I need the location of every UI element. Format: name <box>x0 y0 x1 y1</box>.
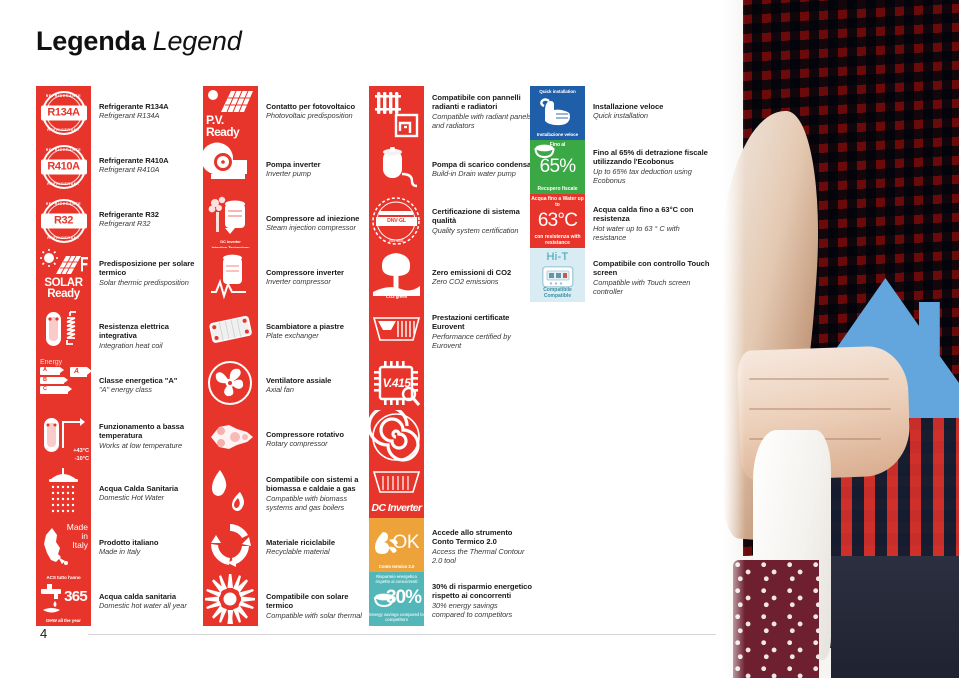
legend-label-en: Domestic hot water all year <box>99 601 199 610</box>
legend-label-en: Refrigerant R134A <box>99 111 199 120</box>
legend-label-it: Installazione veloce <box>593 102 711 111</box>
legend-label-en: Build-in Drain water pump <box>432 169 532 178</box>
legend-label-en: 30% energy savings compared to competito… <box>432 601 532 619</box>
legend-label-en: Solar thermic predisposition <box>99 278 199 287</box>
energy-bar-c: C <box>43 386 47 394</box>
legend-item-plate-exchanger: Scambiatore a piastre Plate exchanger <box>203 302 370 356</box>
legend-item-dhw-all-year: ACS tutto l'anno 365 DHW all the year Ac… <box>36 572 203 626</box>
legend-item-radiant-panels: Compatibile con pannelli radianti e radi… <box>369 86 536 140</box>
legend-label-en: Inverter pump <box>266 169 366 178</box>
seal-arc-top: REFRIGERANTE <box>40 94 88 98</box>
hot-water-63-degrees-icon: Acqua fino a Water up to 63°C con resist… <box>530 194 585 248</box>
tile-bottom-text: Compatibile Compatible <box>530 287 585 300</box>
tile-bottom-text: Recupero fiscale <box>530 186 585 192</box>
tile-line-2: Ready <box>206 127 239 139</box>
legend-label-en: Zero CO2 emissions <box>432 277 532 286</box>
low-temperature-thermometer-icon: +43°C -10°C <box>36 410 91 464</box>
legend-label-it: Refrigerante R134A <box>99 102 199 111</box>
legend-item-energy-class-a: Energy A B C A Classe energetica "A" "A"… <box>36 356 203 410</box>
legend-item-touch-screen: Hi-T Compatibile Compatible Compatibile … <box>530 248 715 302</box>
dnv-arc-bottom: ISO 9001 <box>369 239 424 243</box>
zero-co2-emissions-tree-icon: CO2 green <box>369 248 424 302</box>
legend-column-2: P.V. Ready Contatto per fotovoltaico Pho… <box>203 86 370 626</box>
legend-item-energy-savings-30: Risparmio energetico rispetto ai concorr… <box>369 572 536 626</box>
legend-label-it: Compatibile con pannelli radianti e radi… <box>432 93 532 112</box>
photo-finger-line-1 <box>749 378 889 380</box>
seal-arc-bottom: REFRIGERANT <box>40 182 88 186</box>
energy-flag-label: A <box>74 367 79 377</box>
legend-item-rotary-compressor: Compressore rotativo Rotary compressor <box>203 410 370 464</box>
integration-heat-coil-icon <box>36 302 91 356</box>
legend-column-3: Compatibile con pannelli radianti e radi… <box>369 86 536 626</box>
domestic-hot-water-shower-icon <box>36 464 91 518</box>
legend-label-it: Zero emissioni di CO2 <box>432 268 532 277</box>
legend-label-it: Compressore inverter <box>266 268 366 277</box>
photo-left-fade <box>723 0 745 678</box>
legend-label-it: Predisposizione per solare termico <box>99 259 199 278</box>
legend-item-dc-inverter: DC Inverter <box>369 464 536 518</box>
energy-bar-b: B <box>43 377 47 385</box>
legend-label-en: Quality system certification <box>432 226 532 235</box>
legend-label-it: Prestazioni certificate Eurovent <box>432 313 532 332</box>
legend-label-it: Scambiatore a piastre <box>266 322 366 331</box>
legend-column-4: Quick installation Installazione veloce … <box>530 86 715 302</box>
tile-line-2: Ready <box>36 289 91 300</box>
legend-item-solar-ready: SOLAR Ready Predisposizione per solare t… <box>36 248 203 302</box>
legend-label-en: Compatible with solar thermal <box>266 611 366 620</box>
legend-label-en: Compatible with radiant panels and radia… <box>432 112 532 130</box>
legend-page: LegendaLegend REFRIGERANTE R134A REFRIGE… <box>0 0 959 678</box>
spiral-scroll-compressor-icon <box>369 410 424 464</box>
legend-label-it: Certificazione di sistema qualità <box>432 207 532 226</box>
refrigerant-r32-seal-icon: REFRIGERANTE R32 REFRIGERANT <box>36 194 91 248</box>
tile-bottom-text: Installazione veloce <box>530 132 585 137</box>
tile-top-text: Acqua fino a Water up to <box>530 196 585 208</box>
legend-label-it: Classe energetica "A" <box>99 376 199 385</box>
legend-label-en: Refrigerant R32 <box>99 219 199 228</box>
photo-jeans <box>831 556 959 678</box>
page-title-english: Legend <box>153 26 242 56</box>
seal-arc-top: REFRIGERANTE <box>40 148 88 152</box>
photo-finger-line-2 <box>749 408 891 410</box>
energy-savings-30-percent-icon: Risparmio energetico rispetto ai concorr… <box>369 572 424 626</box>
tile-bottom-text: Energy savings compared to competitors <box>369 613 424 623</box>
legend-label-it: Refrigerante R410A <box>99 156 199 165</box>
inverter-compressor-icon <box>203 248 258 302</box>
seal-center-text: R134A <box>41 106 87 121</box>
page-title: LegendaLegend <box>36 26 242 57</box>
tax-deduction-65-percent-icon: Fino al 65% Recupero fiscale <box>530 140 585 194</box>
legend-label-it: Acqua Calda Sanitaria <box>99 484 199 493</box>
conto-termico-ok-hand-icon: OK Conto termico 2.0 <box>369 518 424 572</box>
energy-class-a-icon: Energy A B C A <box>36 356 91 410</box>
legend-label-en: Performance certified by Eurovent <box>432 332 532 350</box>
axial-fan-icon <box>203 356 258 410</box>
legend-label-it: Resistenza elettrica integrativa <box>99 322 199 341</box>
legend-label-it: Ventilatore assiale <box>266 376 366 385</box>
legend-label-en: Plate exchanger <box>266 331 366 340</box>
temp-cold: -10°C <box>75 456 89 462</box>
footer-divider <box>88 634 716 635</box>
legend-label-en: Photovoltaic predisposition <box>266 111 366 120</box>
tile-bottom-text-1: DC Inverter <box>203 240 258 245</box>
legend-item-made-in-italy: Made in Italy Prodotto italiano Made in … <box>36 518 203 572</box>
tile-big-value: 65% <box>530 156 585 178</box>
temp-hot: +43°C <box>73 448 89 454</box>
legend-label-en: Steam injection compressor <box>266 223 366 232</box>
drain-water-pump-icon <box>369 140 424 194</box>
legend-item-low-temperature: +43°C -10°C Funzionamento a bassa temper… <box>36 410 203 464</box>
legend-label-en: Quick installation <box>593 111 711 120</box>
legend-label-it: Refrigerante R32 <box>99 210 199 219</box>
inverter-pump-icon <box>203 140 258 194</box>
seal-arc-bottom: REFRIGERANT <box>40 128 88 132</box>
legend-item-biomass-gas: Compatibile con sistemi a biomassa e cal… <box>203 464 370 518</box>
energy-bar-a: A <box>43 367 47 375</box>
legend-label-en: Made in Italy <box>99 547 199 556</box>
legend-item-refrigerant-r32: REFRIGERANTE R32 REFRIGERANT Refrigerant… <box>36 194 203 248</box>
legend-item-inverter-pump: Pompa inverter Inverter pump <box>203 140 370 194</box>
legend-label-it: Pompa di scarico condensa <box>432 160 532 169</box>
legend-item-drain-water-pump: Pompa di scarico condensa Build-in Drain… <box>369 140 536 194</box>
seal-arc-top: REFRIGERANTE <box>40 202 88 206</box>
seal-center-text: R32 <box>41 214 87 229</box>
legend-item-eurovent: Prestazioni certificate Eurovent Perform… <box>369 302 536 356</box>
legend-label-en: Compatible with biomass systems and gas … <box>266 494 366 512</box>
legend-item-conto-termico: OK Conto termico 2.0 Accede allo strumen… <box>369 518 536 572</box>
tile-bottom-text: Conto termico 2.0 <box>369 564 424 569</box>
legend-item-refrigerant-r410a: REFRIGERANTE R410A REFRIGERANT Refrigera… <box>36 140 203 194</box>
legend-label-en: Compatible with Touch screen controller <box>593 278 711 296</box>
legend-label-it: Compressore ad iniezione <box>266 214 366 223</box>
tile-bottom-text: DHW all the year <box>36 618 91 623</box>
seal-arc-bottom: REFRIGERANT <box>40 236 88 240</box>
legend-item-scroll-compressor <box>369 410 536 464</box>
legend-label-en: Axial fan <box>266 385 366 394</box>
tile-big-value: 63°C <box>530 210 585 232</box>
legend-label-it: Compatibile con controllo Touch screen <box>593 259 711 278</box>
dhw-all-year-tap-365-icon: ACS tutto l'anno 365 DHW all the year <box>36 572 91 626</box>
legend-label-en: Refrigerant R410A <box>99 165 199 174</box>
legend-item-quick-installation: Quick installation Installazione veloce … <box>530 86 715 140</box>
tile-bottom-text: CO2 green <box>369 294 424 299</box>
solar-ready-icon: SOLAR Ready <box>36 248 91 302</box>
eurovent-certified-icon <box>369 302 424 356</box>
legend-item-dnv-gl-certification: DNV·GL ISO 9001 Certificazione di sistem… <box>369 194 536 248</box>
legend-label-en: Rotary compressor <box>266 439 366 448</box>
legend-label-it: Accede allo strumento Conto Termico 2.0 <box>432 528 532 547</box>
biomass-gas-flame-icon <box>203 464 258 518</box>
quick-installation-hand-icon: Quick installation Installazione veloce <box>530 86 585 140</box>
refrigerant-r410a-seal-icon: REFRIGERANTE R410A REFRIGERANT <box>36 140 91 194</box>
legend-label-en: Recyclable material <box>266 547 366 556</box>
legend-item-inverter-compressor: Compressore inverter Inverter compressor <box>203 248 370 302</box>
pv-ready-solar-panel-icon: P.V. Ready <box>203 86 258 140</box>
legend-column-1: REFRIGERANTE R134A REFRIGERANT Refrigera… <box>36 86 203 626</box>
legend-item-axial-fan: Ventilatore assiale Axial fan <box>203 356 370 410</box>
legend-label-en: Hot water up to 63 ° C with resistance <box>593 224 711 242</box>
legend-label-it: Materiale riciclabile <box>266 538 366 547</box>
plate-exchanger-icon <box>203 302 258 356</box>
seal-center-text: R410A <box>41 160 87 175</box>
legend-item-refrigerant-r134a: REFRIGERANTE R134A REFRIGERANT Refrigera… <box>36 86 203 140</box>
legend-item-domestic-hot-water: Acqua Calda Sanitaria Domestic Hot Water <box>36 464 203 518</box>
page-title-italian: Legenda <box>36 26 146 56</box>
legend-item-tax-deduction-65: Fino al 65% Recupero fiscale Fino al 65%… <box>530 140 715 194</box>
legend-item-solar-thermal: Compatibile con solare termico Compatibl… <box>203 572 370 626</box>
legend-label-en: Up to 65% tax deduction using Ecobonus <box>593 167 711 185</box>
legend-label-en: "A" energy class <box>99 385 199 394</box>
legend-label-it: Acqua calda sanitaria <box>99 592 199 601</box>
tile-line-3: Italy <box>67 541 88 550</box>
touch-screen-controller-hit-icon: Hi-T Compatibile Compatible <box>530 248 585 302</box>
lifestyle-photo <box>723 0 959 678</box>
dc-inverter-icon: DC Inverter <box>369 464 424 518</box>
ok-label: OK <box>393 532 419 554</box>
v415-label: V.415 <box>369 376 424 390</box>
legend-item-recyclable: Materiale riciclabile Recyclable materia… <box>203 518 370 572</box>
energy-title: Energy <box>40 359 87 366</box>
legend-item-integration-heat-coil: Resistenza elettrica integrativa Integra… <box>36 302 203 356</box>
legend-label-it: Compatibile con solare termico <box>266 592 366 611</box>
legend-label-it: 30% di risparmio energetico rispetto ai … <box>432 582 532 601</box>
tile-big-number: 365 <box>64 588 87 605</box>
steam-injection-compressor-icon: DC Inverter Injection Technology <box>203 194 258 248</box>
legend-label-en: Domestic Hot Water <box>99 493 199 502</box>
legend-label-it: Funzionamento a bassa temperatura <box>99 422 199 441</box>
dnv-center-text: DNV·GL <box>376 217 417 226</box>
hit-label: Hi-T <box>530 251 585 263</box>
tile-top-text: Quick installation <box>530 89 585 94</box>
legend-item-steam-injection-compressor: DC Inverter Injection Technology Compres… <box>203 194 370 248</box>
page-number: 4 <box>40 626 47 641</box>
radiant-panels-radiators-icon <box>369 86 424 140</box>
legend-label-en: Works at low temperature <box>99 441 199 450</box>
legend-item-pv-ready: P.V. Ready Contatto per fotovoltaico Pho… <box>203 86 370 140</box>
v415-chip-icon: V.415 <box>369 356 424 410</box>
solar-thermal-sun-icon <box>203 572 258 626</box>
tile-top-text: Risparmio energetico rispetto ai concorr… <box>369 575 424 585</box>
legend-label-it: Fino al 65% di detrazione fiscale utiliz… <box>593 148 711 167</box>
legend-label-it: Pompa inverter <box>266 160 366 169</box>
legend-item-zero-co2: CO2 green Zero emissioni di CO2 Zero CO2… <box>369 248 536 302</box>
refrigerant-r134a-seal-icon: REFRIGERANTE R134A REFRIGERANT <box>36 86 91 140</box>
legend-label-it: Prodotto italiano <box>99 538 199 547</box>
savings-percent-label: 30% <box>386 587 421 609</box>
made-in-italy-icon: Made in Italy <box>36 518 91 572</box>
rotary-compressor-icon <box>203 410 258 464</box>
legend-label-it: Compatibile con sistemi a biomassa e cal… <box>266 475 366 494</box>
legend-label-it: Acqua calda fino a 63°C con resistenza <box>593 205 711 224</box>
legend-label-en: Access the Thermal Contour 2.0 tool <box>432 547 532 565</box>
dnv-gl-certification-icon: DNV·GL ISO 9001 <box>369 194 424 248</box>
tile-top-text: ACS tutto l'anno <box>36 575 91 580</box>
legend-label-en: Integration heat coil <box>99 341 199 350</box>
legend-label-it: Contatto per fotovoltaico <box>266 102 366 111</box>
tile-bottom-text: con resistenza with resistance <box>530 234 585 246</box>
recyclable-material-icon <box>203 518 258 572</box>
legend-label-en: Inverter compressor <box>266 277 366 286</box>
legend-label-it: Compressore rotativo <box>266 430 366 439</box>
legend-item-hot-water-63: Acqua fino a Water up to 63°C con resist… <box>530 194 715 248</box>
photo-polka-dot-skirt <box>733 560 819 678</box>
dc-inverter-label: DC Inverter <box>369 502 424 514</box>
legend-item-v415: V.415 <box>369 356 536 410</box>
